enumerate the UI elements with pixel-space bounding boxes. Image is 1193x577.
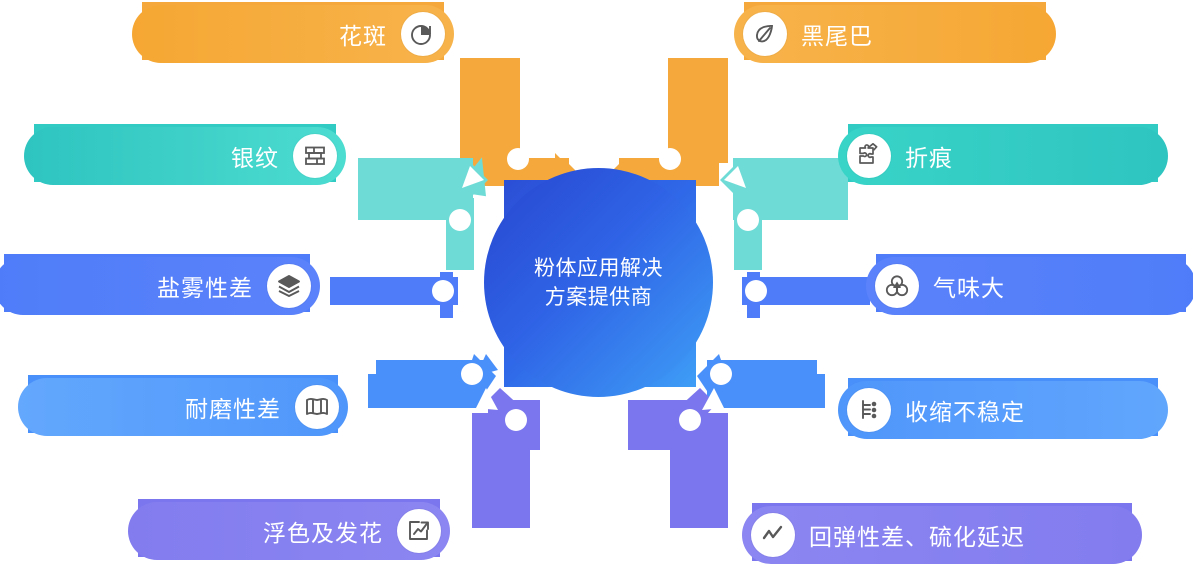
node-label: 气味大 (933, 269, 1005, 303)
node-yinwen[interactable]: 银纹 (24, 124, 346, 188)
node-pill[interactable]: 浮色及发花 (128, 502, 450, 560)
node-pill[interactable]: 耐磨性差 (18, 378, 348, 436)
node-label: 花斑 (339, 17, 387, 51)
node-label: 盐雾性差 (157, 269, 253, 303)
map-icon (295, 385, 339, 429)
node-shousuo[interactable]: 收缩不稳定 (838, 378, 1168, 442)
infographic-canvas: 粉体应用解决 方案提供商 花斑 黑尾巴 (0, 0, 1193, 577)
node-qiwei[interactable]: 气味大 (866, 254, 1193, 318)
node-yanwu[interactable]: 盐雾性差 (0, 254, 320, 318)
connector-huitan (600, 388, 740, 528)
puzzle-icon (847, 134, 891, 178)
connector-fuse (460, 388, 600, 528)
node-pill[interactable]: 花斑 (132, 5, 454, 63)
node-label: 银纹 (231, 139, 279, 173)
node-label: 浮色及发花 (263, 514, 383, 548)
connector-yanwu (330, 272, 500, 318)
node-label: 黑尾巴 (801, 17, 873, 51)
node-label: 回弹性差、硫化延迟 (809, 518, 1025, 552)
node-pill[interactable]: 气味大 (866, 257, 1193, 315)
node-huitan[interactable]: 回弹性差、硫化延迟 (742, 503, 1142, 567)
leaf-icon (743, 12, 787, 56)
connector-qiwei (700, 272, 870, 318)
node-label: 收缩不稳定 (905, 393, 1025, 427)
node-pill[interactable]: 收缩不稳定 (838, 381, 1168, 439)
node-fuse[interactable]: 浮色及发花 (128, 499, 450, 563)
center-hub-label: 粉体应用解决 方案提供商 (534, 254, 663, 312)
node-pill[interactable]: 黑尾巴 (734, 5, 1056, 63)
node-pill[interactable]: 银纹 (24, 127, 346, 185)
brick-wall-icon (293, 134, 337, 178)
node-zhehen[interactable]: 折痕 (838, 124, 1168, 188)
recycle-icon (875, 264, 919, 308)
pie-chart-icon (401, 12, 445, 56)
node-huaban[interactable]: 花斑 (132, 2, 454, 66)
line-chart-icon (751, 513, 795, 557)
sitemap-icon (847, 388, 891, 432)
trending-box-icon (397, 509, 441, 553)
node-naimo[interactable]: 耐磨性差 (18, 375, 348, 439)
node-pill[interactable]: 盐雾性差 (0, 257, 320, 315)
node-pill[interactable]: 回弹性差、硫化延迟 (742, 506, 1142, 564)
node-pill[interactable]: 折痕 (838, 127, 1168, 185)
center-hub: 粉体应用解决 方案提供商 (484, 168, 713, 397)
node-label: 折痕 (905, 139, 953, 173)
node-heiweiba[interactable]: 黑尾巴 (734, 2, 1056, 66)
layers-icon (267, 264, 311, 308)
node-label: 耐磨性差 (185, 390, 281, 424)
